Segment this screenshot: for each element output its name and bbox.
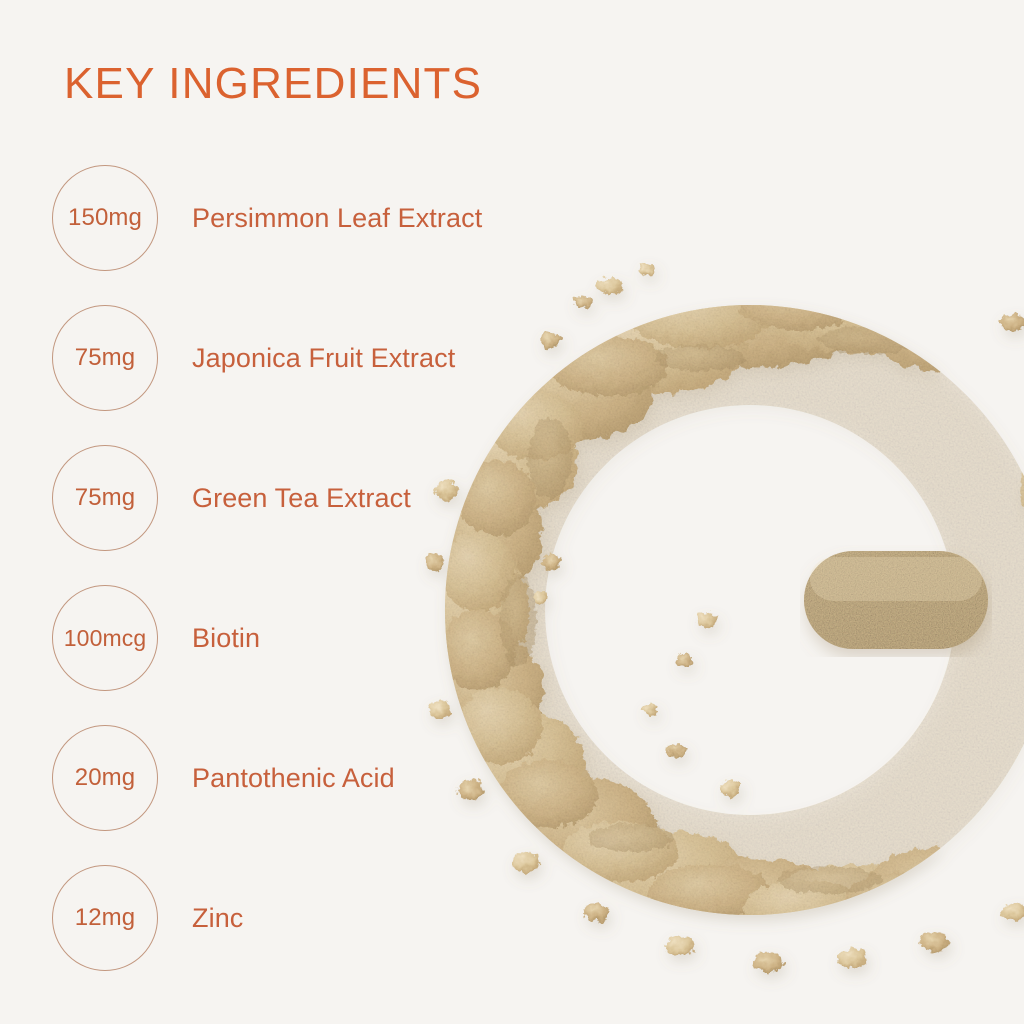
dose-value: 12mg <box>75 906 135 930</box>
dose-value: 75mg <box>75 346 135 370</box>
ingredient-name: Pantothenic Acid <box>192 765 395 792</box>
dose-badge: 75mg <box>52 445 158 551</box>
dose-value: 150mg <box>68 206 142 230</box>
dose-badge: 75mg <box>52 305 158 411</box>
dose-value: 20mg <box>75 766 135 790</box>
ingredient-name: Persimmon Leaf Extract <box>192 205 482 232</box>
ingredient-name: Green Tea Extract <box>192 485 411 512</box>
dose-badge: 150mg <box>52 165 158 271</box>
ingredient-name: Japonica Fruit Extract <box>192 345 455 372</box>
dose-value: 75mg <box>75 486 135 510</box>
ingredient-name: Zinc <box>192 905 243 932</box>
supplement-tablet <box>800 545 992 657</box>
dose-badge: 100mcg <box>52 585 158 691</box>
dose-value: 100mcg <box>64 627 146 650</box>
ingredients-infographic: KEY INGREDIENTS 150mg Persimmon Leaf Ext… <box>0 0 1024 1024</box>
dose-badge: 12mg <box>52 865 158 971</box>
dose-badge: 20mg <box>52 725 158 831</box>
ingredient-list: 150mg Persimmon Leaf Extract 75mg Japoni… <box>0 0 560 1024</box>
ingredient-name: Biotin <box>192 625 260 652</box>
